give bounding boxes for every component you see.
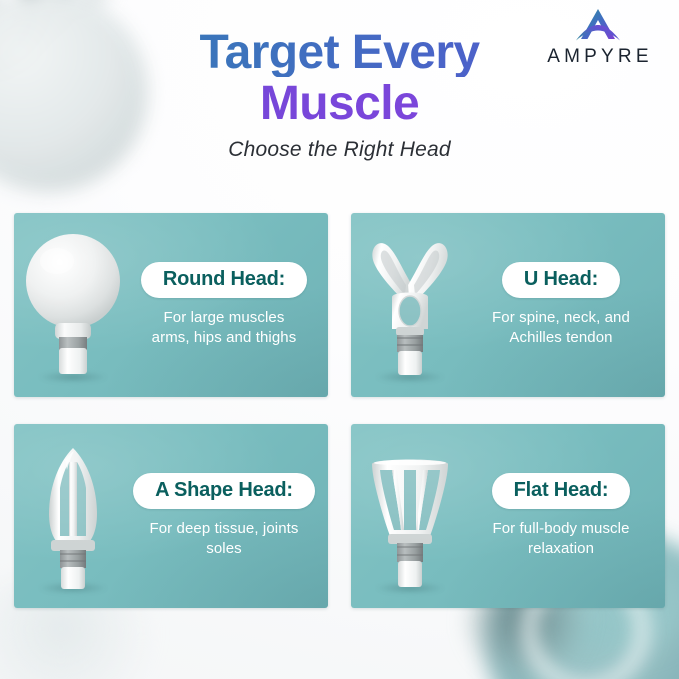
card-u-head-description: For spine, neck, and Achilles tendon: [469, 308, 653, 348]
desc-line-2: arms, hips and thighs: [152, 329, 297, 346]
card-u-head-label: U Head:: [502, 262, 620, 298]
card-flat-head-title: Flat Head:: [514, 479, 609, 501]
card-flat-head-media: [351, 424, 469, 608]
desc-line-1: For deep tissue, joints: [149, 520, 298, 537]
desc-line-1: For full-body muscle: [492, 520, 629, 537]
card-u-head[interactable]: U Head: For spine, neck, and Achilles te…: [351, 213, 665, 397]
card-a-shape-head-body: A Shape Head: For deep tissue, joints so…: [132, 473, 328, 559]
desc-line-1: For spine, neck, and: [492, 309, 630, 326]
card-round-head-description: For large muscles arms, hips and thighs: [132, 308, 316, 348]
u-head-attachment-icon: [356, 225, 464, 385]
card-flat-head-description: For full-body muscle relaxation: [469, 519, 653, 559]
card-round-head-title: Round Head:: [163, 268, 285, 290]
card-flat-head-label: Flat Head:: [492, 473, 631, 509]
card-a-shape-head[interactable]: A Shape Head: For deep tissue, joints so…: [14, 424, 328, 608]
infographic-poster: AMPYRE Target Every Muscle Choose the Ri…: [0, 0, 679, 679]
card-u-head-title: U Head:: [524, 268, 598, 290]
card-round-head-media: [14, 213, 132, 397]
card-a-shape-head-media: [14, 424, 132, 608]
desc-line-1: For large muscles: [164, 309, 285, 326]
desc-line-2: Achilles tendon: [509, 329, 612, 346]
card-round-head[interactable]: Round Head: For large muscles arms, hips…: [14, 213, 328, 397]
headline-subtitle: Choose the Right Head: [0, 138, 679, 162]
flat-head-attachment-icon: [356, 436, 464, 596]
head-type-grid: Round Head: For large muscles arms, hips…: [14, 213, 665, 608]
card-a-shape-head-description: For deep tissue, joints soles: [132, 519, 316, 559]
card-u-head-media: [351, 213, 469, 397]
headline-line-2: Muscle: [0, 79, 679, 128]
card-round-head-label: Round Head:: [141, 262, 307, 298]
card-a-shape-head-title: A Shape Head:: [155, 479, 293, 501]
card-round-head-body: Round Head: For large muscles arms, hips…: [132, 262, 328, 348]
headline-block: Target Every Muscle Choose the Right Hea…: [0, 28, 679, 162]
headline-line-1: Target Every: [0, 28, 679, 77]
card-flat-head-body: Flat Head: For full-body muscle relaxati…: [469, 473, 665, 559]
a-shape-head-attachment-icon: [19, 436, 127, 596]
desc-line-2: soles: [206, 540, 242, 557]
card-u-head-body: U Head: For spine, neck, and Achilles te…: [469, 262, 665, 348]
round-head-attachment-icon: [19, 225, 127, 385]
card-flat-head[interactable]: Flat Head: For full-body muscle relaxati…: [351, 424, 665, 608]
card-a-shape-head-label: A Shape Head:: [133, 473, 315, 509]
desc-line-2: relaxation: [528, 540, 594, 557]
